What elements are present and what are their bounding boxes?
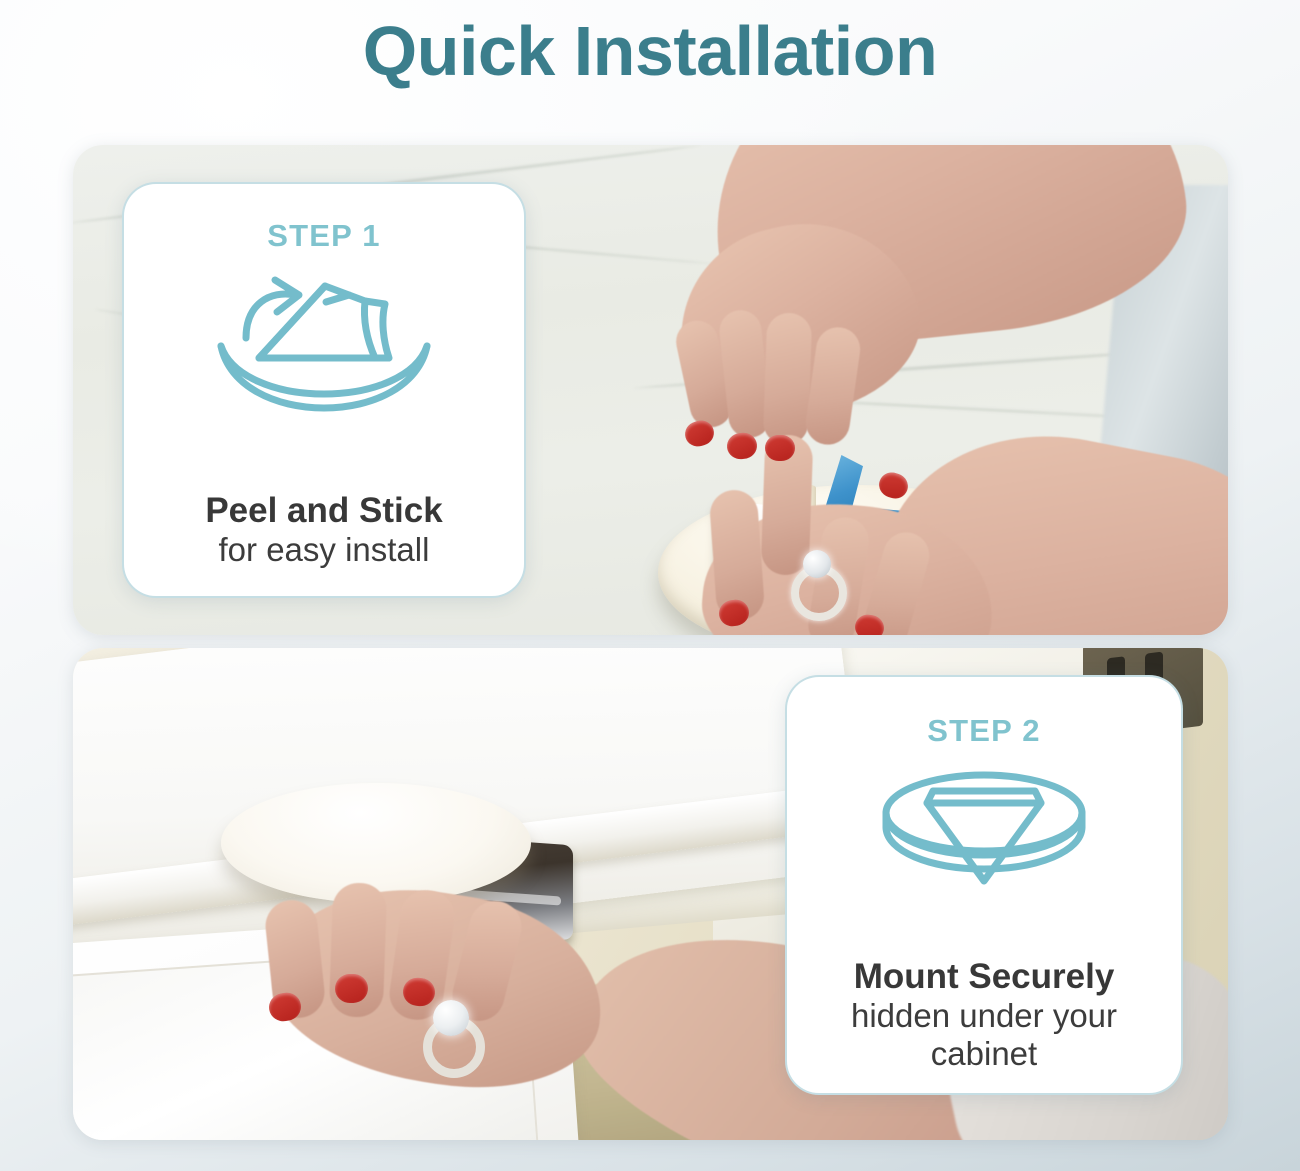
- peel-sticker-icon: [213, 268, 435, 419]
- ring-diamond: [803, 550, 831, 578]
- step-1-label: STEP 1: [267, 218, 380, 254]
- step-1-text: Peel and Stick for easy install: [189, 490, 458, 570]
- step-1-headline: Peel and Stick: [205, 490, 442, 531]
- step-2-card: STEP 2 Mount Securely hidden under your …: [785, 675, 1183, 1095]
- page-title: Quick Installation: [0, 12, 1300, 90]
- finger: [763, 312, 813, 445]
- ring-diamond: [433, 1000, 469, 1036]
- step-2-headline: Mount Securely: [803, 956, 1165, 997]
- red-fingernail: [765, 435, 795, 461]
- mounted-turntable: [221, 783, 531, 903]
- step-2-label: STEP 2: [927, 713, 1040, 749]
- step-1-subline: for easy install: [205, 531, 442, 570]
- step-1-card: STEP 1 Peel and Stick for easy install: [122, 182, 526, 598]
- quick-installation-infographic: Quick Installation: [0, 0, 1300, 1171]
- mount-disc-icon: [873, 763, 1095, 902]
- step-2-text: Mount Securely hidden under your cabinet: [787, 956, 1181, 1073]
- step-2-subline: hidden under your cabinet: [803, 997, 1165, 1073]
